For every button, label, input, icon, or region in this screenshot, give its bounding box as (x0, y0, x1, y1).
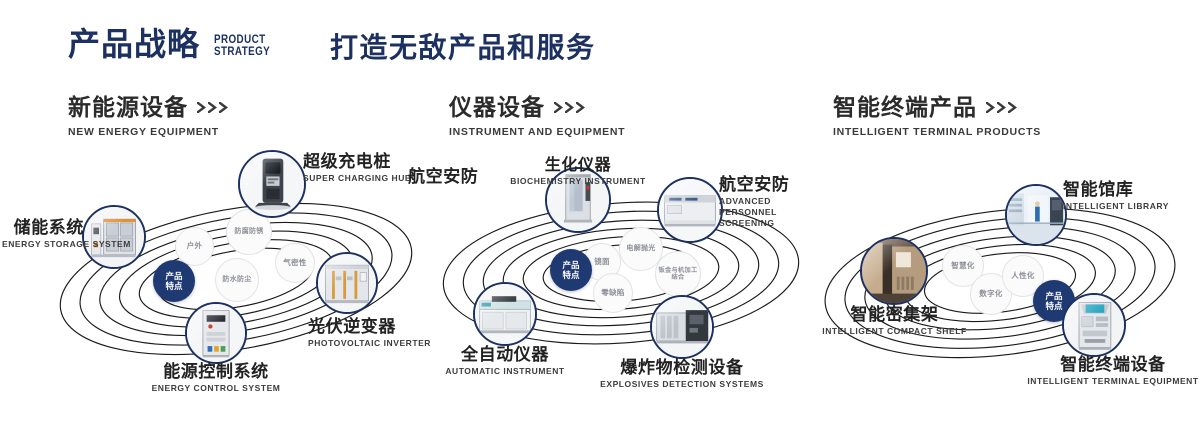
triple-chevron-right-icon (986, 102, 1018, 113)
product-caption-en: ENERGY STORAGE SYSTEM (2, 239, 84, 250)
product-caption-en: EXPLOSIVES DETECTION SYSTEMS (592, 379, 772, 390)
product-bubble-explosives-detection[interactable] (650, 295, 714, 359)
section-heading-cn: 仪器设备 (449, 96, 545, 119)
product-caption-en: BIOCHEMISTRY INSTRUMENT (483, 176, 673, 187)
product-bubble-pv-inverter[interactable] (316, 252, 378, 314)
core-bubble-product-features: 产品 特点 (153, 260, 195, 302)
core-bubble-line2: 特点 (562, 270, 579, 280)
product-caption-cn: 储能系统 (2, 218, 84, 238)
core-bubble-line1: 产品 (562, 260, 579, 270)
product-bubble-energy-control[interactable] (185, 302, 247, 364)
product-caption-cn: 智能密集架 (822, 305, 967, 325)
cluster-intelligent-terminal: 智慧化 数字化 人性化 产品 特点 (810, 155, 1200, 400)
product-caption-en: ADVANCED PERSONNEL SCREENING (719, 196, 823, 229)
feature-bubble: 钣金与机加工结合 (655, 251, 701, 297)
product-bubble-compact-shelf[interactable] (860, 237, 928, 305)
product-caption-intelligent-library: 智能馆库 INTELLIGENT LIBRARY (1063, 180, 1193, 212)
product-bubble-energy-storage[interactable] (82, 205, 146, 269)
feature-bubble: 防水防尘 (215, 258, 259, 302)
product-caption-en: INTELLIGENT TERMINAL EQUIPMENT (1023, 376, 1200, 387)
product-caption-en: AUTOMATIC INSTRUMENT (420, 366, 590, 377)
core-bubble-line1: 产品 (1045, 291, 1062, 301)
product-caption-automatic-instrument: 全自动仪器 AUTOMATIC INSTRUMENT (420, 345, 590, 377)
infographic-canvas: 产品战略 PRODUCT STRATEGY 打造无敌产品和服务 新能源设备 NE… (0, 0, 1200, 422)
cluster-instrument: 镜面 电解抛光 钣金与机加工结合 零缺陷 产品 特点 航空安防 (425, 155, 815, 400)
triple-chevron-right-icon (197, 102, 229, 113)
feature-bubble: 零缺陷 (593, 273, 633, 313)
extra-label-cn: 航空安防 (408, 167, 494, 187)
product-caption-en: INTELLIGENT COMPACT SHELF (822, 326, 967, 337)
page-title-en: PRODUCT STRATEGY (214, 33, 270, 57)
feature-bubble-label: 电解抛光 (626, 245, 655, 253)
section-heading-cn: 智能终端产品 (833, 96, 977, 119)
product-caption-cn: 全自动仪器 (420, 345, 590, 365)
core-bubble-line1: 产品 (165, 271, 182, 281)
page-title-en-line2: STRATEGY (214, 45, 270, 57)
feature-bubble-label: 防腐防锈 (234, 228, 263, 236)
section-heading-intelligent-terminal: 智能终端产品 INTELLIGENT TERMINAL PRODUCTS (833, 96, 1041, 138)
triple-chevron-right-icon (554, 102, 586, 113)
core-bubble-line2: 特点 (165, 281, 182, 291)
section-heading-new-energy: 新能源设备 NEW ENERGY EQUIPMENT (68, 96, 229, 138)
product-bubble-charging-hub[interactable] (238, 150, 306, 218)
product-bubble-automatic-instrument[interactable] (473, 282, 537, 346)
product-bubble-screening[interactable] (657, 177, 723, 243)
section-heading-cn: 新能源设备 (68, 96, 188, 119)
product-caption-cn: 爆炸物检测设备 (592, 358, 772, 378)
page-title-cn: 产品战略 (68, 28, 200, 60)
product-caption-cn: 智能馆库 (1063, 180, 1193, 200)
product-caption-cn: 智能终端设备 (1023, 355, 1200, 375)
page-title: 产品战略 PRODUCT STRATEGY (68, 28, 282, 60)
product-caption-en: ENERGY CONTROL SYSTEM (126, 383, 306, 394)
product-caption-compact-shelf: 智能密集架 INTELLIGENT COMPACT SHELF (822, 305, 967, 337)
product-caption-cn: 生化仪器 (483, 157, 673, 175)
feature-bubble: 户外 (175, 227, 214, 266)
section-heading-en: INTELLIGENT TERMINAL PRODUCTS (833, 126, 1041, 138)
product-caption-screening: 航空安防 ADVANCED PERSONNEL SCREENING (719, 175, 823, 229)
product-caption-cn: 航空安防 (719, 175, 823, 195)
cluster-new-energy: 户外 防腐防锈 防水防尘 气密性 产品 特点 (40, 155, 430, 400)
product-bubble-intelligent-library[interactable] (1005, 184, 1067, 246)
product-caption-en: INTELLIGENT LIBRARY (1063, 201, 1193, 212)
product-caption-cn: 能源控制系统 (126, 362, 306, 382)
feature-bubble-label: 钣金与机加工结合 (656, 267, 700, 281)
product-caption-biochemistry: 生化仪器 BIOCHEMISTRY INSTRUMENT (483, 157, 673, 187)
page-subtitle: 打造无敌产品和服务 (330, 34, 596, 62)
feature-bubble: 气密性 (275, 243, 315, 283)
section-heading-instrument: 仪器设备 INSTRUMENT AND EQUIPMENT (449, 96, 625, 138)
product-caption-explosives-detection: 爆炸物检测设备 EXPLOSIVES DETECTION SYSTEMS (592, 358, 772, 390)
section-heading-en: NEW ENERGY EQUIPMENT (68, 126, 229, 138)
feature-bubble-label: 防水防尘 (222, 276, 251, 284)
extra-label-aviation-security: 航空安防 (408, 167, 494, 187)
section-heading-en: INSTRUMENT AND EQUIPMENT (449, 126, 625, 138)
core-bubble-product-features: 产品 特点 (550, 249, 592, 291)
core-bubble-line2: 特点 (1045, 301, 1062, 311)
product-caption-energy-control: 能源控制系统 ENERGY CONTROL SYSTEM (126, 362, 306, 394)
product-caption-energy-storage: 储能系统 ENERGY STORAGE SYSTEM (2, 218, 84, 250)
product-caption-terminal-equipment: 智能终端设备 INTELLIGENT TERMINAL EQUIPMENT (1023, 355, 1200, 387)
product-bubble-terminal-equipment[interactable] (1062, 293, 1126, 357)
